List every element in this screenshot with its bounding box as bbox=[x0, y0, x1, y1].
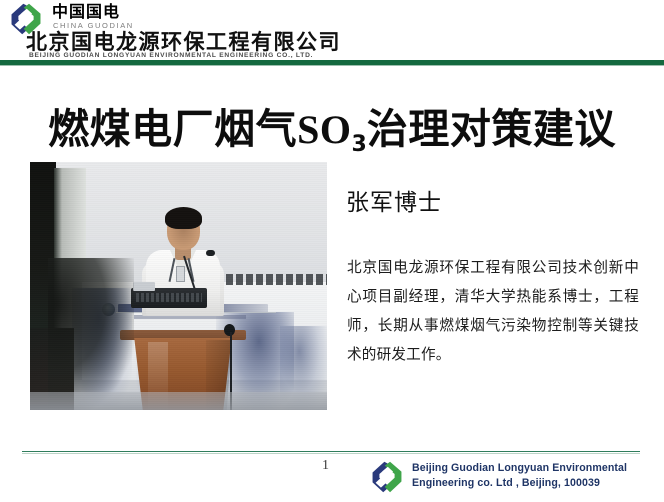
photo-speaker-badge bbox=[176, 266, 185, 282]
photo-speaker-hair bbox=[165, 207, 202, 229]
footer-line-1: Beijing Guodian Longyuan Environmental bbox=[412, 461, 627, 476]
photo-laptop-screen bbox=[133, 282, 155, 291]
company-name-en: BEIJING GUODIAN LONGYUAN ENVIRONMENTAL E… bbox=[29, 52, 313, 59]
footer-rule bbox=[22, 451, 640, 452]
footer-company-address: Beijing Guodian Longyuan Environmental E… bbox=[412, 461, 627, 490]
guodian-swirl-logo-icon bbox=[368, 461, 406, 493]
header-green-rule-shadow bbox=[0, 65, 664, 66]
page-title: 燃煤电厂烟气SO3治理对策建议 bbox=[0, 105, 664, 161]
photo-backdrop-association-text bbox=[226, 274, 327, 285]
title-part1: 燃煤电厂烟气 bbox=[48, 105, 297, 153]
speaker-biography: 北京国电龙源环保工程有限公司技术创新中心项目副经理，清华大学热能系博士，工程师，… bbox=[347, 253, 639, 369]
title-formula-subscript: 3 bbox=[352, 132, 367, 157]
speaker-name: 张军博士 bbox=[346, 183, 442, 217]
photo-floor bbox=[30, 392, 327, 410]
slide-header: 中国国电 CHINA GUODIAN 北京国电龙源环保工程有限公司 BEIJIN… bbox=[0, 0, 664, 66]
photo-microphone-head bbox=[206, 250, 215, 256]
slide-canvas: 中国国电 CHINA GUODIAN 北京国电龙源环保工程有限公司 BEIJIN… bbox=[0, 0, 664, 502]
photo-dark-foreground-blob bbox=[48, 258, 134, 410]
speaker-photo bbox=[30, 162, 327, 410]
company-name-cn: 北京国电龙源环保工程有限公司 bbox=[26, 31, 341, 53]
brand-name-cn: 中国国电 bbox=[52, 3, 120, 20]
footer-rule-light bbox=[22, 453, 640, 454]
title-formula-main: SO bbox=[297, 107, 351, 152]
title-part2: 治理对策建议 bbox=[367, 105, 616, 153]
photo-laptop-keyboard bbox=[136, 293, 202, 302]
page-number: 1 bbox=[322, 458, 329, 474]
footer-line-2: Engineering co. Ltd , Beijing, 100039 bbox=[412, 476, 627, 491]
brand-name-en: CHINA GUODIAN bbox=[53, 21, 134, 30]
